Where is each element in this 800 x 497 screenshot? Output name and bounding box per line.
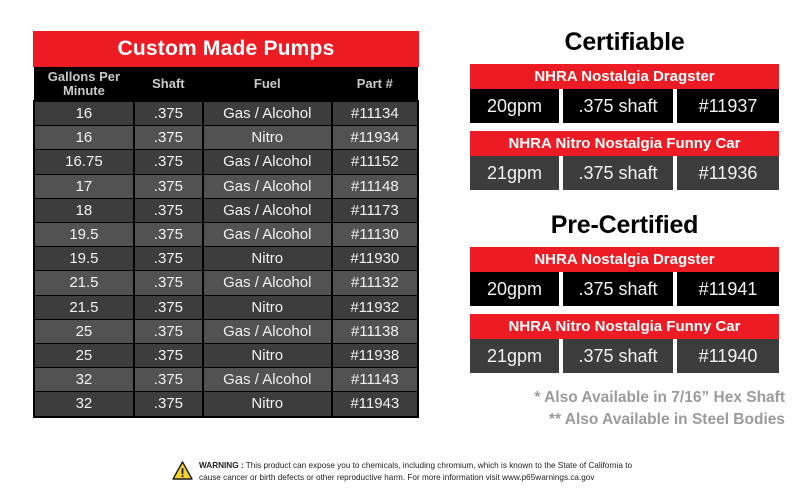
cell-fuel: Gas / Alcohol bbox=[203, 319, 332, 343]
precertified-dragster-gpm: 20gpm bbox=[470, 272, 559, 306]
precertified-funny-car-shaft: .375 shaft bbox=[563, 339, 673, 373]
cell-part: #11143 bbox=[332, 368, 418, 392]
cell-shaft: .375 bbox=[134, 344, 203, 368]
warning-line-1: This product can expose you to chemicals… bbox=[244, 461, 633, 470]
table-row: 25.375Nitro#11938 bbox=[34, 344, 418, 368]
cell-part: #11934 bbox=[332, 126, 418, 150]
cell-part: #11930 bbox=[332, 247, 418, 271]
column-header-fuel: Fuel bbox=[203, 67, 332, 101]
cell-fuel: Nitro bbox=[203, 247, 332, 271]
certifiable-heading: Certifiable bbox=[470, 29, 779, 57]
column-header-part-number: Part # bbox=[332, 67, 418, 101]
certifiable-funny-car-part: #11936 bbox=[677, 156, 779, 190]
cell-part: #11138 bbox=[332, 319, 418, 343]
precertified-section: Pre-Certified NHRA Nostalgia Dragster 20… bbox=[470, 212, 779, 373]
cell-part: #11134 bbox=[332, 101, 418, 126]
cell-fuel: Nitro bbox=[203, 392, 332, 417]
cell-fuel: Nitro bbox=[203, 295, 332, 319]
cell-fuel: Nitro bbox=[203, 344, 332, 368]
warning-triangle-icon bbox=[172, 461, 193, 485]
cell-shaft: .375 bbox=[134, 247, 203, 271]
cell-gpm: 16 bbox=[34, 126, 134, 150]
table-row: 16.75.375Gas / Alcohol#11152 bbox=[34, 150, 418, 174]
cell-gpm: 17 bbox=[34, 174, 134, 198]
precertified-dragster-shaft: .375 shaft bbox=[563, 272, 673, 306]
cell-shaft: .375 bbox=[134, 295, 203, 319]
cell-gpm: 21.5 bbox=[34, 295, 134, 319]
cell-shaft: .375 bbox=[134, 271, 203, 295]
warning-text: WARNING : This product can expose you to… bbox=[199, 460, 632, 483]
precertified-heading: Pre-Certified bbox=[470, 212, 779, 240]
cell-shaft: .375 bbox=[134, 174, 203, 198]
table-row: 17.375Gas / Alcohol#11148 bbox=[34, 174, 418, 198]
cell-gpm: 19.5 bbox=[34, 223, 134, 247]
prop65-warning: WARNING : This product can expose you to… bbox=[172, 460, 692, 485]
cell-shaft: .375 bbox=[134, 198, 203, 222]
precertified-funny-car-gpm: 21gpm bbox=[470, 339, 559, 373]
certifiable-funny-car-gpm: 21gpm bbox=[470, 156, 559, 190]
cell-part: #11932 bbox=[332, 295, 418, 319]
main-table-header-row: Gallons Per Minute Shaft Fuel Part # bbox=[34, 67, 418, 101]
cell-part: #11938 bbox=[332, 344, 418, 368]
cell-shaft: .375 bbox=[134, 101, 203, 126]
table-row: 32.375Gas / Alcohol#11143 bbox=[34, 368, 418, 392]
cell-shaft: .375 bbox=[134, 392, 203, 417]
cell-gpm: 18 bbox=[34, 198, 134, 222]
cell-shaft: .375 bbox=[134, 368, 203, 392]
footnotes: * Also Available in 7/16” Hex Shaft ** A… bbox=[460, 387, 785, 432]
cell-part: #11152 bbox=[332, 150, 418, 174]
certifiable-dragster-shaft: .375 shaft bbox=[563, 89, 673, 123]
cell-gpm: 32 bbox=[34, 392, 134, 417]
cell-part: #11173 bbox=[332, 198, 418, 222]
warning-line-2: cause cancer or birth defects or other r… bbox=[199, 473, 594, 482]
cell-part: #11130 bbox=[332, 223, 418, 247]
cell-gpm: 32 bbox=[34, 368, 134, 392]
main-table-head: Gallons Per Minute Shaft Fuel Part # bbox=[34, 67, 418, 101]
cell-part: #11148 bbox=[332, 174, 418, 198]
certifiable-section: Certifiable NHRA Nostalgia Dragster 20gp… bbox=[470, 29, 779, 190]
main-table-grid: Gallons Per Minute Shaft Fuel Part # 16.… bbox=[33, 67, 419, 418]
table-row: 19.5.375Nitro#11930 bbox=[34, 247, 418, 271]
table-row: 16.375Gas / Alcohol#11134 bbox=[34, 101, 418, 126]
cell-shaft: .375 bbox=[134, 150, 203, 174]
cell-gpm: 25 bbox=[34, 344, 134, 368]
cell-fuel: Gas / Alcohol bbox=[203, 150, 332, 174]
cell-fuel: Gas / Alcohol bbox=[203, 223, 332, 247]
main-table-title: Custom Made Pumps bbox=[33, 31, 419, 67]
table-row: 32.375Nitro#11943 bbox=[34, 392, 418, 417]
cell-gpm: 21.5 bbox=[34, 271, 134, 295]
precertified-dragster-part: #11941 bbox=[677, 272, 779, 306]
custom-made-pumps-table: Custom Made Pumps Gallons Per Minute Sha… bbox=[33, 31, 419, 418]
cell-part: #11132 bbox=[332, 271, 418, 295]
cell-shaft: .375 bbox=[134, 319, 203, 343]
precertified-row-dragster: 20gpm .375 shaft #11941 bbox=[470, 272, 779, 306]
table-row: 21.5.375Gas / Alcohol#11132 bbox=[34, 271, 418, 295]
main-table-body: 16.375Gas / Alcohol#1113416.375Nitro#119… bbox=[34, 101, 418, 417]
cell-fuel: Gas / Alcohol bbox=[203, 198, 332, 222]
certifiable-band-funny-car: NHRA Nitro Nostalgia Funny Car bbox=[470, 131, 779, 156]
precertified-band-dragster: NHRA Nostalgia Dragster bbox=[470, 247, 779, 272]
table-row: 18.375Gas / Alcohol#11173 bbox=[34, 198, 418, 222]
warning-label: WARNING : bbox=[199, 461, 244, 470]
cell-fuel: Gas / Alcohol bbox=[203, 101, 332, 126]
certifiable-funny-car-shaft: .375 shaft bbox=[563, 156, 673, 190]
cell-fuel: Gas / Alcohol bbox=[203, 174, 332, 198]
column-header-gallons-per-minute: Gallons Per Minute bbox=[34, 67, 134, 101]
table-row: 16.375Nitro#11934 bbox=[34, 126, 418, 150]
pump-spec-sheet: Custom Made Pumps Gallons Per Minute Sha… bbox=[0, 0, 800, 497]
footnote-steel-bodies: ** Also Available in Steel Bodies bbox=[460, 409, 785, 431]
certifiable-dragster-gpm: 20gpm bbox=[470, 89, 559, 123]
certifiable-row-funny-car: 21gpm .375 shaft #11936 bbox=[470, 156, 779, 190]
table-row: 21.5.375Nitro#11932 bbox=[34, 295, 418, 319]
table-row: 25.375Gas / Alcohol#11138 bbox=[34, 319, 418, 343]
cell-shaft: .375 bbox=[134, 223, 203, 247]
precertified-row-funny-car: 21gpm .375 shaft #11940 bbox=[470, 339, 779, 373]
cell-fuel: Gas / Alcohol bbox=[203, 271, 332, 295]
certifiable-dragster-part: #11937 bbox=[677, 89, 779, 123]
cell-gpm: 19.5 bbox=[34, 247, 134, 271]
table-row: 19.5.375Gas / Alcohol#11130 bbox=[34, 223, 418, 247]
cell-fuel: Gas / Alcohol bbox=[203, 368, 332, 392]
precertified-funny-car-part: #11940 bbox=[677, 339, 779, 373]
cell-gpm: 16 bbox=[34, 101, 134, 126]
certifiable-row-dragster: 20gpm .375 shaft #11937 bbox=[470, 89, 779, 123]
footnote-hex-shaft: * Also Available in 7/16” Hex Shaft bbox=[460, 387, 785, 409]
column-header-shaft: Shaft bbox=[134, 67, 203, 101]
precertified-band-funny-car: NHRA Nitro Nostalgia Funny Car bbox=[470, 314, 779, 339]
cell-part: #11943 bbox=[332, 392, 418, 417]
cell-gpm: 16.75 bbox=[34, 150, 134, 174]
cell-shaft: .375 bbox=[134, 126, 203, 150]
cell-gpm: 25 bbox=[34, 319, 134, 343]
cell-fuel: Nitro bbox=[203, 126, 332, 150]
certifiable-band-dragster: NHRA Nostalgia Dragster bbox=[470, 64, 779, 89]
